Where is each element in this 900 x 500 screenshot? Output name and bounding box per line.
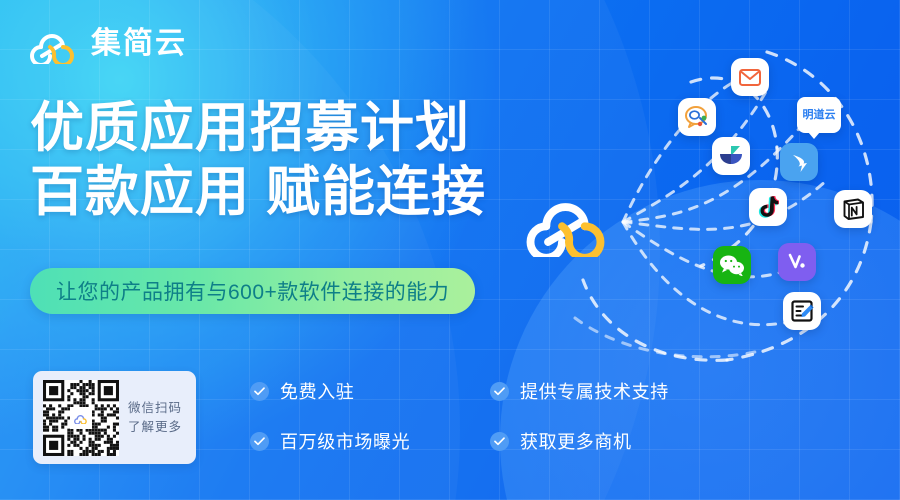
- feature-label: 获取更多商机: [520, 428, 632, 454]
- mingdaoyun-icon[interactable]: 明道云: [797, 97, 841, 133]
- list-item: 免费入驻: [250, 378, 490, 404]
- headline-line-2: 百款应用 赋能连接: [30, 162, 486, 222]
- dingtalk-icon[interactable]: [780, 143, 818, 181]
- list-item: 提供专属技术支持: [490, 378, 720, 404]
- check-circle-icon: [490, 382, 509, 401]
- headline-line-1: 优质应用招募计划: [30, 98, 486, 158]
- jijianyun-cloud-logo-icon: [26, 24, 82, 64]
- headline-block: 优质应用招募计划 百款应用 赋能连接: [30, 98, 486, 223]
- doc-edit-icon[interactable]: [783, 292, 821, 330]
- check-circle-icon: [250, 432, 269, 451]
- integration-hub-graphic: 明道云: [505, 30, 900, 375]
- brand-logo[interactable]: 集简云: [26, 24, 187, 64]
- hub-center-logo-icon: [520, 185, 618, 257]
- check-circle-icon: [250, 382, 269, 401]
- notion-icon[interactable]: [834, 190, 872, 228]
- list-item: 获取更多商机: [490, 428, 720, 454]
- boat-icon[interactable]: [712, 137, 750, 175]
- feature-label: 百万级市场曝光: [280, 428, 410, 454]
- qr-code-icon: [43, 380, 119, 456]
- tagline-pill[interactable]: 让您的产品拥有与600+款软件连接的能力: [30, 268, 475, 314]
- wechat-icon[interactable]: [713, 246, 751, 284]
- mingdaoyun-label: 明道云: [803, 110, 836, 121]
- qr-caption: 微信扫码 了解更多: [128, 402, 182, 434]
- email-icon[interactable]: [731, 58, 769, 96]
- tagline-pill-label: 让您的产品拥有与600+款软件连接的能力: [56, 276, 449, 306]
- check-circle-icon: [490, 432, 509, 451]
- promo-banner: 集简云 优质应用招募计划 百款应用 赋能连接 让您的产品拥有与600+款软件连接…: [0, 0, 900, 500]
- violet-check-icon[interactable]: [778, 243, 816, 281]
- feature-label: 免费入驻: [280, 378, 354, 404]
- list-item: 百万级市场曝光: [250, 428, 490, 454]
- qr-card[interactable]: 微信扫码 了解更多: [33, 371, 196, 464]
- qr-center-logo-icon: [71, 408, 91, 428]
- brand-name: 集简云: [91, 29, 187, 59]
- feature-list: 免费入驻 提供专属技术支持 百万级市场曝光 获取更多商机: [250, 378, 720, 454]
- tiktok-icon[interactable]: [749, 188, 787, 226]
- qr-caption-line-1: 微信扫码: [128, 402, 182, 415]
- qr-caption-line-2: 了解更多: [128, 421, 182, 434]
- chat-bubble-icon[interactable]: [678, 98, 716, 136]
- feature-label: 提供专属技术支持: [520, 378, 669, 404]
